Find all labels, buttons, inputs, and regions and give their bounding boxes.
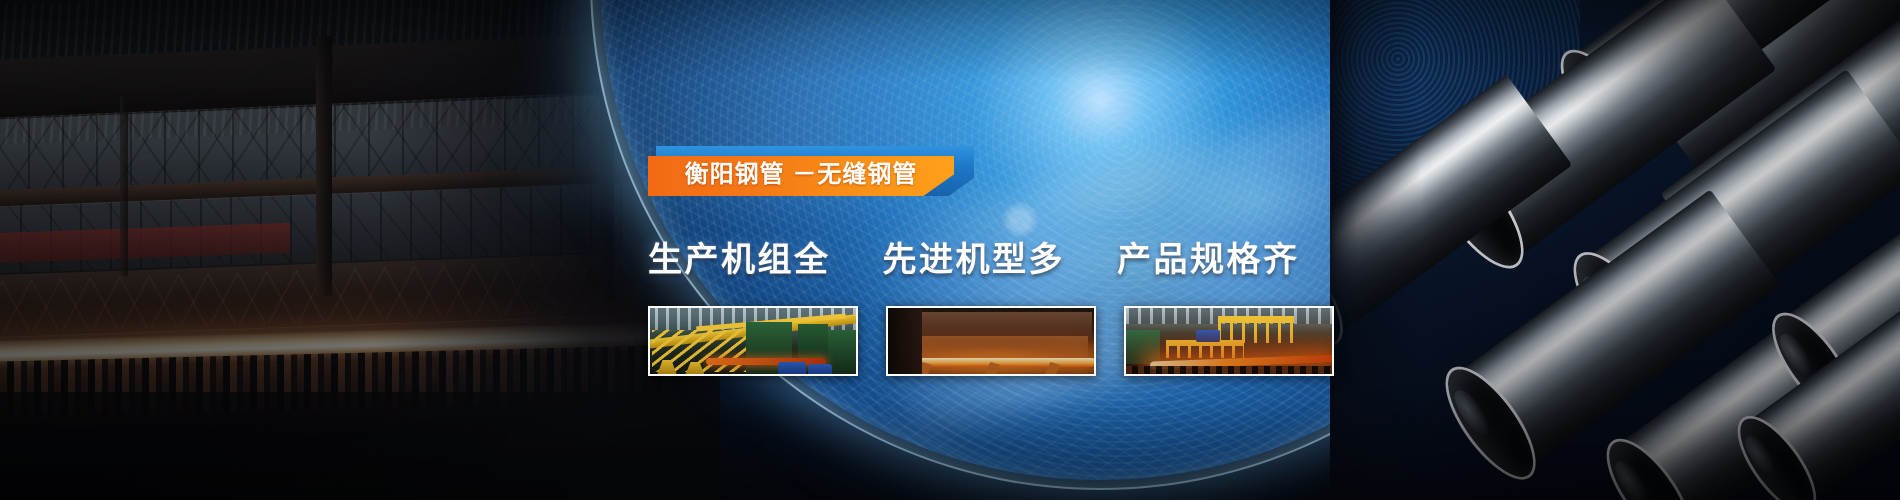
thumbnail-image-1 [650, 308, 856, 374]
thumbnail-strip [648, 306, 1334, 376]
brand-badge: 衡阳钢管 －无缝钢管 [648, 146, 978, 198]
badge-label: 衡阳钢管 －无缝钢管 [685, 163, 918, 187]
thumbnail-image-3 [1126, 308, 1332, 374]
headline-phrase-1: 生产机组全 [648, 243, 831, 277]
thumbnail-image-2 [888, 308, 1094, 374]
thumbnail-rolling-mill-line[interactable] [648, 306, 858, 376]
badge-orange-plate: 衡阳钢管 －无缝钢管 [648, 156, 954, 196]
headline-phrase-2: 先进机型多 [883, 243, 1066, 277]
headline-phrase-3: 产品规格齐 [1117, 243, 1300, 277]
headline: 生产机组全 先进机型多 产品规格齐 [648, 243, 1300, 277]
promotional-banner: 衡阳钢管 －无缝钢管 生产机组全 先进机型多 产品规格齐 [0, 0, 1900, 500]
thumbnail-steel-bar-mill-hall[interactable] [1124, 306, 1334, 376]
thumbnail-hot-billet-rolling[interactable] [886, 306, 1096, 376]
banner-content: 衡阳钢管 －无缝钢管 生产机组全 先进机型多 产品规格齐 [0, 0, 1900, 500]
